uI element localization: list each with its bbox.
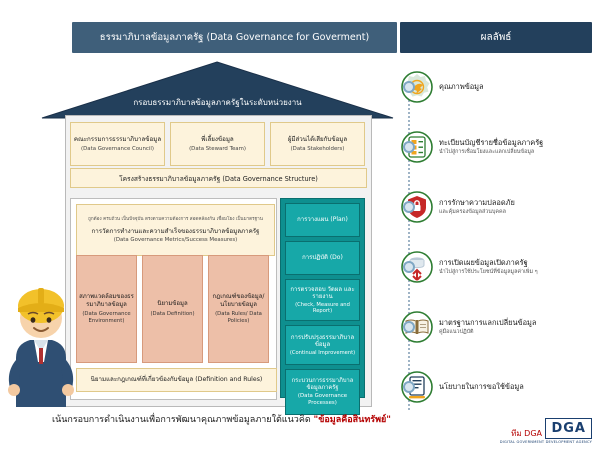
process-improve-en: (Continual Improvement) [290,350,355,357]
outcome-row-security: การรักษาความปลอดภัย และคุ้มครองข้อมูลส่ว… [400,190,600,224]
outcome-text-security: การรักษาความปลอดภัย และคุ้มครองข้อมูลส่ว… [439,198,594,216]
definition-rules-zone: ถูกต้อง ครบถ้วน เป็นปัจจุบัน ตรงตามความต… [70,198,277,400]
roof-shape: กรอบธรรมาภิบาลข้อมูลภาครัฐในระดับหน่วยงา… [40,60,395,120]
pillar-rules: กฎเกณฑ์ของข้อมูล/นโยบายข้อมูล (Data Rule… [208,255,269,363]
connector-node-3 [403,201,415,213]
outcome-row-opendata: การเปิดเผยข้อมูลเปิดภาครัฐ นำไปสู่การใช้… [400,250,600,284]
footer-statement: เน้นกรอบการดำเนินงานเพื่อการพัฒนาคุณภาพข… [52,412,472,426]
process-improve: การปรับปรุงธรรมาภิบาลข้อมูล (Continual I… [285,325,360,365]
engineer-mascot [0,262,80,407]
outcome-policy-title: นโยบายในการขอใช้ข้อมูล [439,382,594,392]
outcome-registry-sub: นำไปสู่การเชื่อมโยงและแลกเปลี่ยนข้อมูล [439,149,594,156]
outcome-registry-title: ทะเบียนบัญชีรายชื่อข้อมูลภาครัฐ [439,138,594,148]
pillar-rules-th: กฎเกณฑ์ของข้อมูล/นโยบายข้อมูล [211,293,266,309]
outcome-security-title: การรักษาความปลอดภัย [439,198,594,208]
roof-label: กรอบธรรมาภิบาลข้อมูลภาครัฐในระดับหน่วยงา… [40,96,395,109]
header-left-title: ธรรมาภิบาลข้อมูลภาครัฐ (Data Governance … [72,22,397,53]
structure-card-council-th: คณะกรรมการธรรมาภิบาลข้อมูล [74,136,161,144]
metrics-keywords: ถูกต้อง ครบถ้วน เป็นปัจจุบัน ตรงตามความต… [88,217,263,223]
outcome-row-standard: มาตรฐานการแลกเปลี่ยนข้อมูล คู่มือแนวปฏิบ… [400,310,600,344]
process-do-th: การปฏิบัติ (Do) [302,254,343,262]
definition-rules-caption: นิยามและกฎเกณฑ์ที่เกี่ยวข้องกับข้อมูล (D… [76,368,277,392]
house-lower-section: ถูกต้อง ครบถ้วน เป็นปัจจุบัน ตรงตามความต… [70,198,365,398]
pillar-environment-th: สภาพแวดล้อมของธรรมาภิบาลข้อมูล [79,293,134,309]
dga-logo-subtitle: DIGITAL GOVERNMENT DEVELOPMENT AGENCY [500,440,592,444]
connector-node-6 [403,381,415,393]
outcome-row-quality: คุณภาพข้อมูล [400,70,600,104]
slide-canvas: ธรรมาภิบาลข้อมูลภาครัฐ (Data Governance … [0,0,600,450]
outcome-security-sub: และคุ้มครองข้อมูลส่วนบุคคล [439,209,594,216]
structure-card-steward-en: (Data Steward Team) [189,146,246,153]
outcome-row-registry: ทะเบียนบัญชีรายชื่อข้อมูลภาครัฐ นำไปสู่ก… [400,130,600,164]
structure-card-stakeholders: ผู้มีส่วนได้เสียกับข้อมูล (Data Stakehol… [270,122,365,166]
metrics-card: ถูกต้อง ครบถ้วน เป็นปัจจุบัน ตรงตามความต… [76,204,275,256]
metrics-title-en: (Data Governance Metrics/Success Measure… [114,237,238,243]
outcome-text-policy: นโยบายในการขอใช้ข้อมูล [439,382,594,393]
process-improve-th: การปรับปรุงธรรมาภิบาลข้อมูล [288,334,357,349]
process-check: การตรวจสอบ วัดผล และรายงาน (Check, Measu… [285,279,360,321]
house-diagram: กรอบธรรมาภิบาลข้อมูลภาครัฐในระดับหน่วยงา… [40,60,395,405]
processes-caption: กระบวนการธรรมาภิบาลข้อมูลภาครัฐ (Data Go… [285,369,360,415]
process-check-en: (Check, Measure and Report) [288,302,357,315]
connector-node-2 [403,141,415,153]
governance-structure-section: คณะกรรมการธรรมาภิบาลข้อมูล (Data Governa… [70,122,365,192]
process-do: การปฏิบัติ (Do) [285,241,360,275]
outcome-standard-sub: คู่มือแนวปฏิบัติ [439,329,594,336]
structure-card-council: คณะกรรมการธรรมาภิบาลข้อมูล (Data Governa… [70,122,165,166]
header-right-title: ผลลัพธ์ [400,22,592,53]
footer-highlight: "ข้อมูลคือสินทรัพย์" [314,415,391,425]
metrics-title-th: การวัดการทำงานและความสำเร็จของธรรมาภิบาล… [92,226,260,236]
footer-text: เน้นกรอบการดำเนินงานเพื่อการพัฒนาคุณภาพข… [52,415,314,425]
processes-caption-en: (Data Governance Processes) [288,393,357,407]
structure-card-stakeholders-en: (Data Stakeholders) [291,146,345,153]
outcome-standard-title: มาตรฐานการแลกเปลี่ยนข้อมูล [439,318,594,328]
structure-card-steward: พี่เลี้ยงข้อมูล (Data Steward Team) [170,122,265,166]
pillar-definition-en: (Data Definition) [150,311,194,318]
processes-caption-th: กระบวนการธรรมาภิบาลข้อมูลภาครัฐ [288,378,357,392]
dga-logo-text: DGA [545,418,592,439]
outcome-text-standard: มาตรฐานการแลกเปลี่ยนข้อมูล คู่มือแนวปฏิบ… [439,318,594,336]
governance-processes-zone: การวางแผน (Plan) การปฏิบัติ (Do) การตรวจ… [280,198,365,398]
pillar-definition-th: นิยามข้อมูล [157,300,187,308]
dga-logo: DGA DIGITAL GOVERNMENT DEVELOPMENT AGENC… [500,417,592,444]
outcome-quality-title: คุณภาพข้อมูล [439,82,594,92]
structure-card-steward-th: พี่เลี้ยงข้อมูล [201,136,233,144]
outcome-opendata-title: การเปิดเผยข้อมูลเปิดภาครัฐ [439,258,594,268]
process-check-th: การตรวจสอบ วัดผล และรายงาน [288,286,357,301]
process-plan: การวางแผน (Plan) [285,203,360,237]
structure-caption: โครงสร้างธรรมาภิบาลข้อมูลภาครัฐ (Data Go… [70,168,367,188]
outcome-text-registry: ทะเบียนบัญชีรายชื่อข้อมูลภาครัฐ นำไปสู่ก… [439,138,594,156]
outcomes-list: คุณภาพข้อมูล ทะเบียนบัญชีรายชื่อข้อมูล [400,62,600,412]
outcome-opendata-sub: นำไปสู่การใช้ประโยชน์ที่ข้อมูลมูลค่าเพิ่… [439,269,594,276]
structure-card-stakeholders-th: ผู้มีส่วนได้เสียกับข้อมูล [288,136,347,144]
pillar-environment: สภาพแวดล้อมของธรรมาภิบาลข้อมูล (Data Gov… [76,255,137,363]
connector-node-5 [403,321,415,333]
outcome-text-quality: คุณภาพข้อมูล [439,82,594,93]
pillar-rules-en: (Data Rules/ Data Policies) [211,311,266,325]
process-plan-th: การวางแผน (Plan) [297,216,348,224]
outcome-row-policy: นโยบายในการขอใช้ข้อมูล [400,370,600,404]
structure-card-council-en: (Data Governance Council) [81,146,154,153]
outcome-text-opendata: การเปิดเผยข้อมูลเปิดภาครัฐ นำไปสู่การใช้… [439,258,594,276]
pillar-definition: นิยามข้อมูล (Data Definition) [142,255,203,363]
connector-node-4 [403,261,415,273]
connector-node-1 [403,81,415,93]
pillar-environment-en: (Data Governance Environment) [79,311,134,325]
